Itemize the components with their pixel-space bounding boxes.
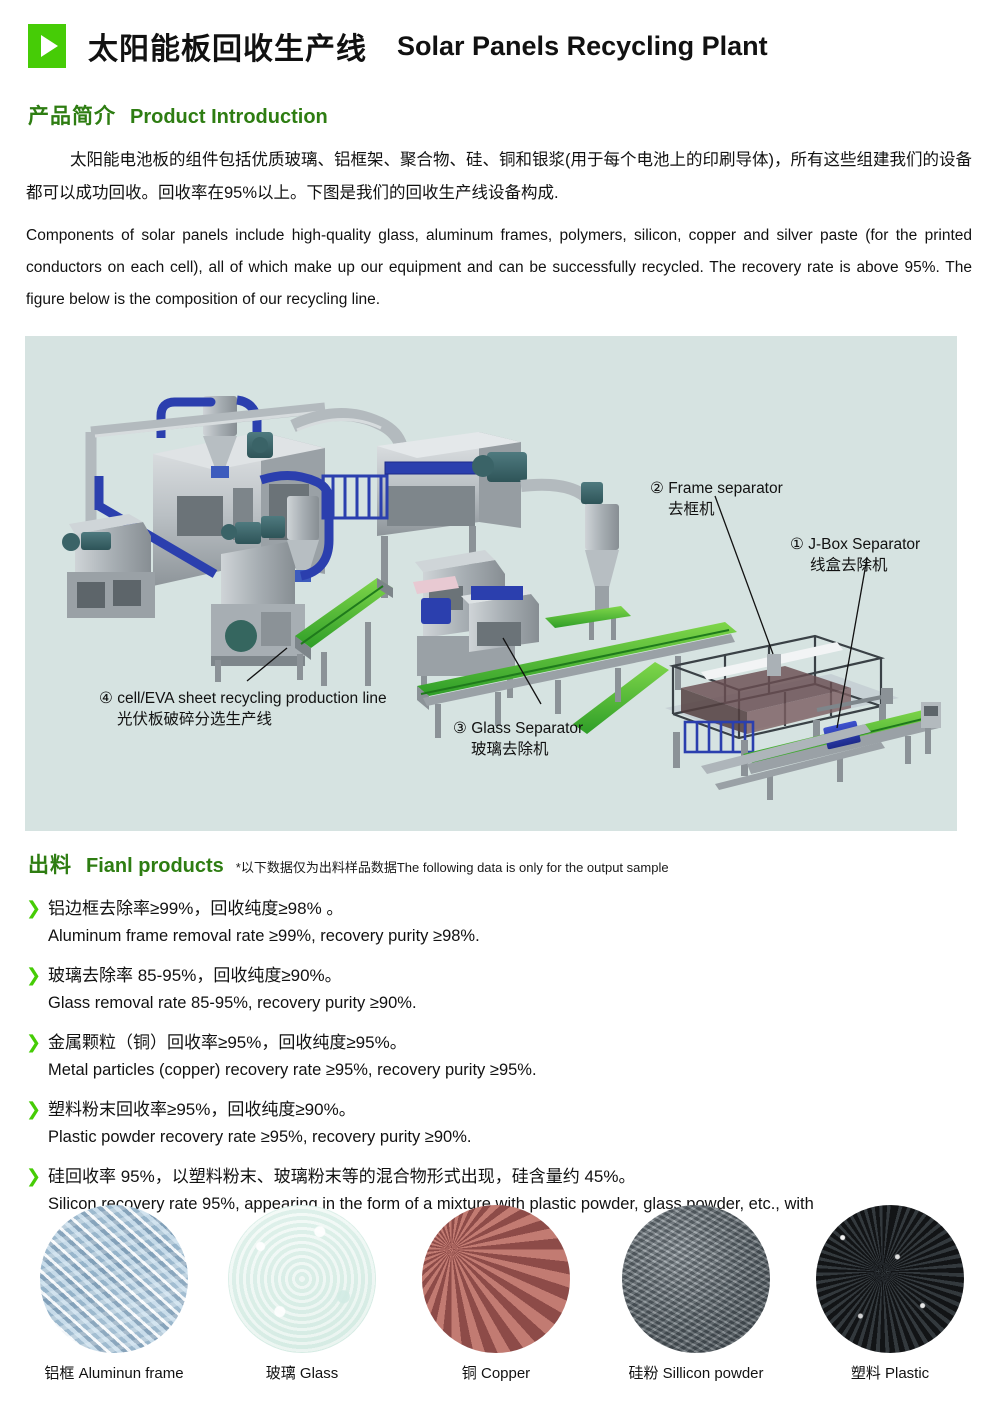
sample-image-plastic [816, 1205, 964, 1353]
list-item: ❯ 玻璃去除率 85-95%，回收纯度≥90%。 Glass removal r… [26, 962, 980, 1017]
sample-caption-aluminum-frame: 铝框 Aluminun frame [24, 1362, 204, 1383]
callout-cell-eva-line-en: ④ cell/EVA sheet recycling production li… [99, 690, 387, 707]
product-sample-glass: 玻璃 Glass [212, 1205, 392, 1383]
sample-image-glass [228, 1205, 376, 1353]
product-sample-silicon-powder: 硅粉 Sillicon powder [606, 1205, 786, 1383]
callout-cell-eva-line-cn: 光伏板破碎分选生产线 [99, 709, 387, 730]
recycling-line-diagram: ② Frame separator 去框机 ① J-Box Separator … [25, 336, 957, 831]
sample-caption-cn: 硅粉 [628, 1365, 658, 1382]
callout-glass-separator: ③ Glass Separator 玻璃去除机 [453, 718, 583, 760]
final-products-note: *以下数据仅为出料样品数据The following data is only … [236, 857, 669, 876]
sample-caption-en: Aluminun frame [79, 1365, 184, 1382]
page-root: 太阳能板回收生产线 Solar Panels Recycling Plant 产… [0, 0, 1000, 1409]
final-products-heading-cn: 出料 [28, 849, 72, 879]
bullet-cn: 铝边框去除率≥99%，回收纯度≥98% 。 [48, 895, 980, 922]
sample-caption-plastic: 塑料 Plastic [800, 1362, 980, 1383]
section-heading-cn: 产品简介 [28, 100, 116, 130]
play-triangle-icon [28, 24, 66, 68]
bullet-cn: 硅回收率 95%，以塑料粉末、玻璃粉末等的混合物形式出现，硅含量约 45%。 [48, 1163, 980, 1190]
final-products-bullet-list: ❯ 铝边框去除率≥99%，回收纯度≥98% 。 Aluminum frame r… [0, 885, 1000, 1218]
sample-image-aluminum-frame [40, 1205, 188, 1353]
callout-frame-separator-cn: 去框机 [650, 499, 783, 520]
section-heading-final-products: 出料 Fianl products *以下数据仅为出料样品数据The follo… [0, 849, 1000, 879]
sample-caption-cn: 玻璃 [266, 1365, 296, 1382]
bullet-cn: 玻璃去除率 85-95%，回收纯度≥90%。 [48, 962, 980, 989]
intro-paragraph-cn: 太阳能电池板的组件包括优质玻璃、铝框架、聚合物、硅、铜和银浆(用于每个电池上的印… [26, 144, 972, 210]
final-products-heading-en: Fianl products [86, 855, 224, 878]
sample-caption-en: Sillicon powder [663, 1365, 764, 1382]
sample-caption-silicon-powder: 硅粉 Sillicon powder [606, 1362, 786, 1383]
bullet-en: Metal particles (copper) recovery rate ≥… [48, 1056, 980, 1084]
sample-caption-glass: 玻璃 Glass [212, 1362, 392, 1383]
page-title-en: Solar Panels Recycling Plant [397, 31, 768, 62]
chevron-right-icon: ❯ [26, 1096, 48, 1151]
product-sample-copper: 铜 Copper [406, 1205, 586, 1383]
sample-image-silicon-powder [622, 1205, 770, 1353]
sample-caption-cn: 铝框 [44, 1365, 74, 1382]
page-header: 太阳能板回收生产线 Solar Panels Recycling Plant [0, 0, 1000, 74]
bullet-en: Aluminum frame removal rate ≥99%, recove… [48, 922, 980, 950]
sample-caption-copper: 铜 Copper [406, 1362, 586, 1383]
callout-jbox-separator-en: ① J-Box Separator [790, 536, 920, 553]
chevron-right-icon: ❯ [26, 895, 48, 950]
sample-caption-en: Glass [300, 1365, 338, 1382]
section-heading-product-introduction: 产品简介 Product Introduction [0, 100, 1000, 130]
list-item: ❯ 塑料粉末回收率≥95%，回收纯度≥90%。 Plastic powder r… [26, 1096, 980, 1151]
callout-jbox-separator-cn: 线盒去除机 [790, 555, 920, 576]
sample-image-copper [422, 1205, 570, 1353]
callout-jbox-separator: ① J-Box Separator 线盒去除机 [790, 534, 920, 576]
chevron-right-icon: ❯ [26, 962, 48, 1017]
section-heading-en: Product Introduction [130, 106, 328, 129]
sample-caption-cn: 铜 [462, 1365, 477, 1382]
intro-text-block: 太阳能电池板的组件包括优质玻璃、铝框架、聚合物、硅、铜和银浆(用于每个电池上的印… [0, 144, 1000, 316]
chevron-right-icon: ❯ [26, 1029, 48, 1084]
list-item: ❯ 铝边框去除率≥99%，回收纯度≥98% 。 Aluminum frame r… [26, 895, 980, 950]
intro-paragraph-en: Components of solar panels include high-… [26, 220, 972, 316]
sample-caption-en: Plastic [885, 1365, 929, 1382]
product-sample-gallery: 铝框 Aluminun frame 玻璃 Glass 铜 Copper 硅粉 S… [0, 1205, 1000, 1405]
callout-glass-separator-cn: 玻璃去除机 [453, 739, 583, 760]
callout-frame-separator-en: ② Frame separator [650, 480, 783, 497]
bullet-en: Glass removal rate 85-95%, recovery puri… [48, 989, 980, 1017]
list-item: ❯ 金属颗粒（铜）回收率≥95%，回收纯度≥95%。 Metal particl… [26, 1029, 980, 1084]
bullet-en: Plastic powder recovery rate ≥95%, recov… [48, 1123, 980, 1151]
sample-caption-en: Copper [481, 1365, 530, 1382]
bullet-cn: 塑料粉末回收率≥95%，回收纯度≥90%。 [48, 1096, 980, 1123]
callout-cell-eva-line: ④ cell/EVA sheet recycling production li… [99, 688, 387, 730]
page-title-cn: 太阳能板回收生产线 [88, 24, 367, 68]
product-sample-aluminum-frame: 铝框 Aluminun frame [24, 1205, 204, 1383]
callout-glass-separator-en: ③ Glass Separator [453, 720, 583, 737]
callout-frame-separator: ② Frame separator 去框机 [650, 478, 783, 520]
product-sample-plastic: 塑料 Plastic [800, 1205, 980, 1383]
sample-caption-cn: 塑料 [851, 1365, 881, 1382]
bullet-cn: 金属颗粒（铜）回收率≥95%，回收纯度≥95%。 [48, 1029, 980, 1056]
